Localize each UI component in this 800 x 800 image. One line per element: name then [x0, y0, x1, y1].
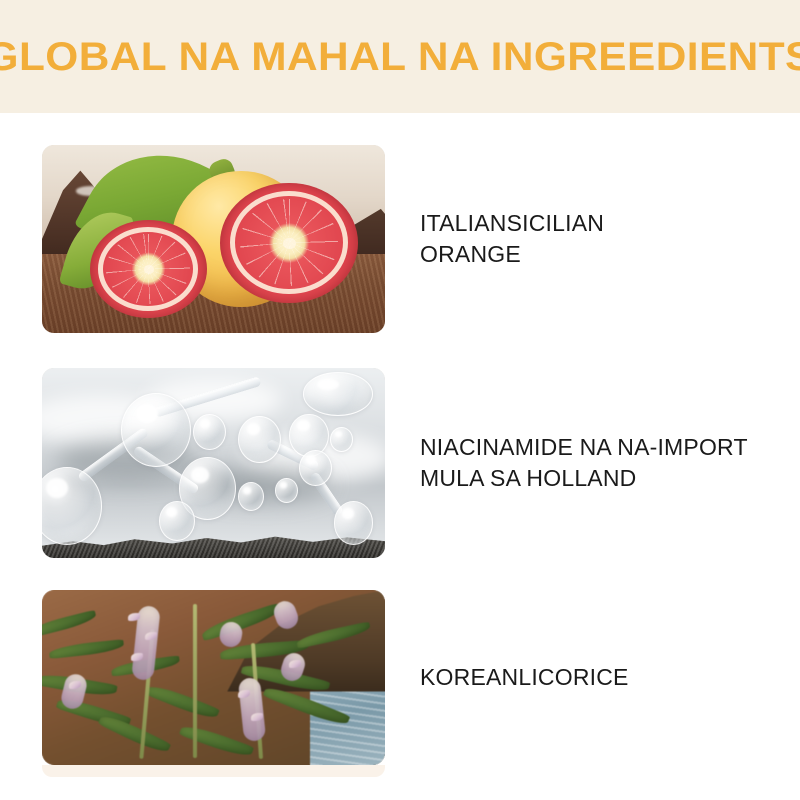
plant-leaf: [295, 621, 371, 649]
ingredient-image-molecule-sky-photo: [42, 368, 385, 558]
molecule-atom: [238, 416, 281, 464]
ingredient-row: ITALIANSICILIAN ORANGE: [0, 145, 800, 333]
ingredient-image-licorice-plant-coast-photo: [42, 590, 385, 765]
molecule-atom: [238, 482, 264, 511]
ingredient-row: KOREANLICORICE: [0, 590, 800, 765]
fruit-pith: [230, 191, 348, 294]
halved-grapefruit: [90, 220, 207, 318]
halved-grapefruit: [220, 183, 357, 303]
ingredient-label: NIACINAMIDE NA NA-IMPORT MULA SA HOLLAND: [420, 432, 800, 494]
molecule-atom: [330, 427, 353, 452]
licorice-foliage: [42, 590, 385, 765]
flower-spike: [238, 677, 266, 742]
ingredient-row: NIACINAMIDE NA NA-IMPORT MULA SA HOLLAND: [0, 368, 800, 558]
molecule-atom: [193, 414, 226, 450]
fruit-core: [144, 265, 154, 274]
bottom-tint-strip: [42, 765, 385, 777]
molecule-atom: [303, 372, 374, 416]
plant-leaf: [48, 639, 124, 659]
ingredient-label: ITALIANSICILIAN ORANGE: [420, 208, 800, 270]
ingredient-image-grapefruit-mountains-photo: [42, 145, 385, 333]
fruit-pith: [98, 227, 198, 311]
flower-floret: [128, 613, 140, 621]
plant-leaf: [98, 711, 172, 757]
molecule-atom: [334, 501, 374, 545]
plant-leaf: [145, 681, 220, 722]
ingredient-list: ITALIANSICILIAN ORANGE: [0, 113, 800, 800]
plant-leaf: [42, 610, 97, 638]
infographic-page: GLOBAL NA MAHAL NA INGREEDIENTS: [0, 0, 800, 800]
header-band: GLOBAL NA MAHAL NA INGREEDIENTS: [0, 0, 800, 113]
flower-floret: [238, 690, 250, 698]
molecule-atom: [121, 393, 192, 467]
plant-stem: [193, 604, 197, 758]
molecule-atom: [299, 450, 332, 486]
page-title: GLOBAL NA MAHAL NA INGREEDIENTS: [0, 37, 800, 77]
fruit-core: [283, 238, 295, 249]
ingredient-label: KOREANLICORICE: [420, 662, 800, 693]
molecule-atom: [159, 501, 195, 541]
plant-leaf: [262, 682, 350, 728]
molecule-atom: [275, 478, 298, 503]
flower-spike: [271, 598, 301, 632]
